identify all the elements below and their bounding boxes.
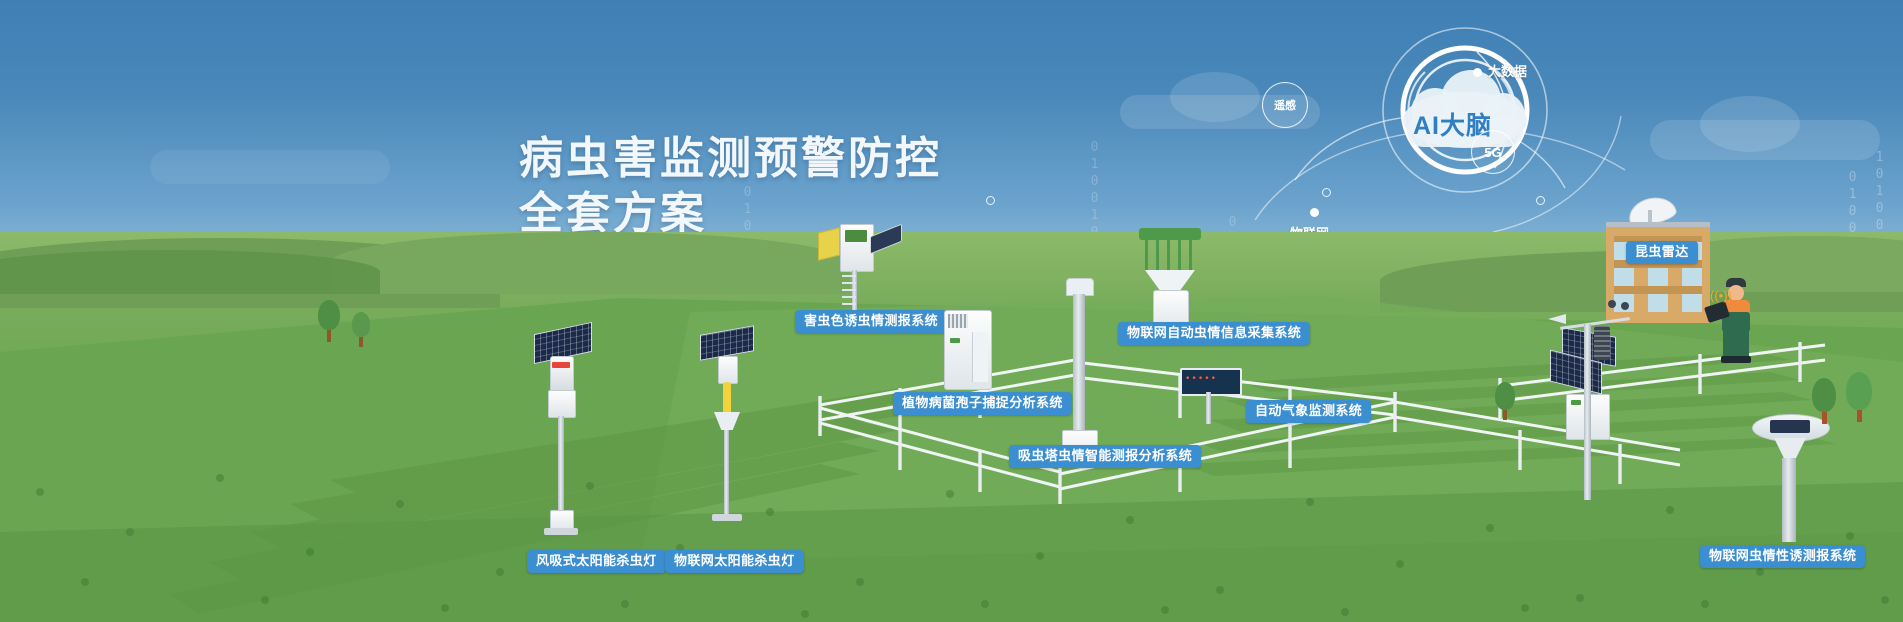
equipment-spore-capture <box>944 310 1024 400</box>
label-suction-tower-pest-forecast-system: 吸虫塔虫情智能测报分析系统 <box>1009 445 1201 468</box>
tree <box>1846 372 1872 422</box>
equipment-base <box>712 514 742 521</box>
suction-tower-column <box>1073 294 1085 436</box>
inspector-boots <box>1721 356 1751 363</box>
equipment-base <box>544 528 578 535</box>
lamp-funnel <box>714 412 740 430</box>
label-insect-radar: 昆虫雷达 <box>1626 241 1698 264</box>
label-wind-suction-solar-insect-lamp: 风吸式太阳能杀虫灯 <box>527 550 666 573</box>
label-iot-pheromone-pest-forecast-system: 物联网虫情性诱测报系统 <box>1700 545 1865 568</box>
collector-cage <box>1145 240 1195 270</box>
lure-board <box>818 227 840 260</box>
equipment-suction-tower <box>1058 278 1104 468</box>
label-color-lure-pest-forecast-system: 害虫色诱虫情测报系统 <box>795 310 947 333</box>
field-inspector-figure: ((•)) <box>1704 278 1768 364</box>
node-5g: 5G <box>1471 130 1515 174</box>
controller-logo <box>1571 400 1581 405</box>
cabinet-logo <box>950 338 960 343</box>
equipment-iot-solar-lamp <box>700 330 780 530</box>
inspector-legs <box>1723 330 1749 358</box>
label-iot-solar-insect-lamp: 物联网太阳能杀虫灯 <box>665 550 804 573</box>
big-data-dot <box>1473 68 1482 77</box>
ladder-rungs <box>842 270 856 312</box>
lamp-housing <box>718 356 738 384</box>
node-big-data-label: 大数据 <box>1488 61 1527 80</box>
tree <box>318 300 340 342</box>
lamp-indicator <box>552 362 570 368</box>
wifi-icon: ((•)) <box>1710 288 1732 303</box>
lamp-body <box>548 390 576 418</box>
illustration-canvas: 010010100101 01001010011010 010010100101… <box>0 0 1903 622</box>
radiation-shield <box>1594 326 1610 360</box>
cabinet-vent <box>948 314 968 328</box>
cloud-shape <box>150 150 390 184</box>
label-iot-auto-pest-info-collection-system: 物联网自动虫情信息采集系统 <box>1118 322 1310 345</box>
network-endpoint-dot <box>986 196 995 205</box>
pheromone-funnel <box>1774 438 1806 460</box>
cabinet-screen <box>845 230 867 242</box>
pheromone-disc-panel <box>1770 420 1810 433</box>
label-plant-pathogen-spore-capture-system: 植物病菌孢子捕捉分析系统 <box>893 392 1072 415</box>
led-board-pole <box>1206 392 1211 424</box>
solar-wing <box>870 224 902 255</box>
uv-tube <box>723 382 731 414</box>
led-display-board: ••••• <box>1180 368 1242 424</box>
cloud-shape <box>1170 72 1260 122</box>
headline-line-1: 病虫害监测预警防控 <box>519 131 942 186</box>
tree <box>1495 382 1515 420</box>
tree <box>352 312 370 347</box>
lamp-pole <box>558 416 564 516</box>
node-remote-sensing-label: 遥感 <box>1274 97 1296 113</box>
cloud-shape <box>1700 96 1800 152</box>
node-remote-sensing: 遥感 <box>1262 82 1308 128</box>
network-endpoint-dot <box>1536 196 1545 205</box>
pheromone-pole <box>1782 458 1796 542</box>
collector-funnel <box>1145 270 1195 292</box>
collector-canopy <box>1139 228 1201 240</box>
label-auto-weather-monitoring-system: 自动气象监测系统 <box>1246 400 1371 423</box>
equipment-pheromone-forecast-main <box>1752 414 1842 544</box>
iot-dot <box>1310 208 1319 217</box>
cabinet-door-panel <box>972 332 988 382</box>
anemometer-cups <box>1608 300 1630 310</box>
node-5g-label: 5G <box>1484 145 1501 160</box>
equipment-wind-suction-solar-lamp <box>528 328 618 538</box>
led-text: ••••• <box>1185 374 1217 384</box>
lamp-pole <box>724 430 729 516</box>
weather-station-pole <box>1584 324 1591 500</box>
network-endpoint-dot <box>1322 188 1331 197</box>
ai-hub: AI大脑 遥感 大数据 5G 物联网 <box>1325 20 1625 235</box>
equipment-color-lure-forecast <box>812 220 922 315</box>
equipment-weather-station <box>1540 300 1650 505</box>
tree <box>1812 378 1836 424</box>
wind-vane <box>1548 314 1566 324</box>
